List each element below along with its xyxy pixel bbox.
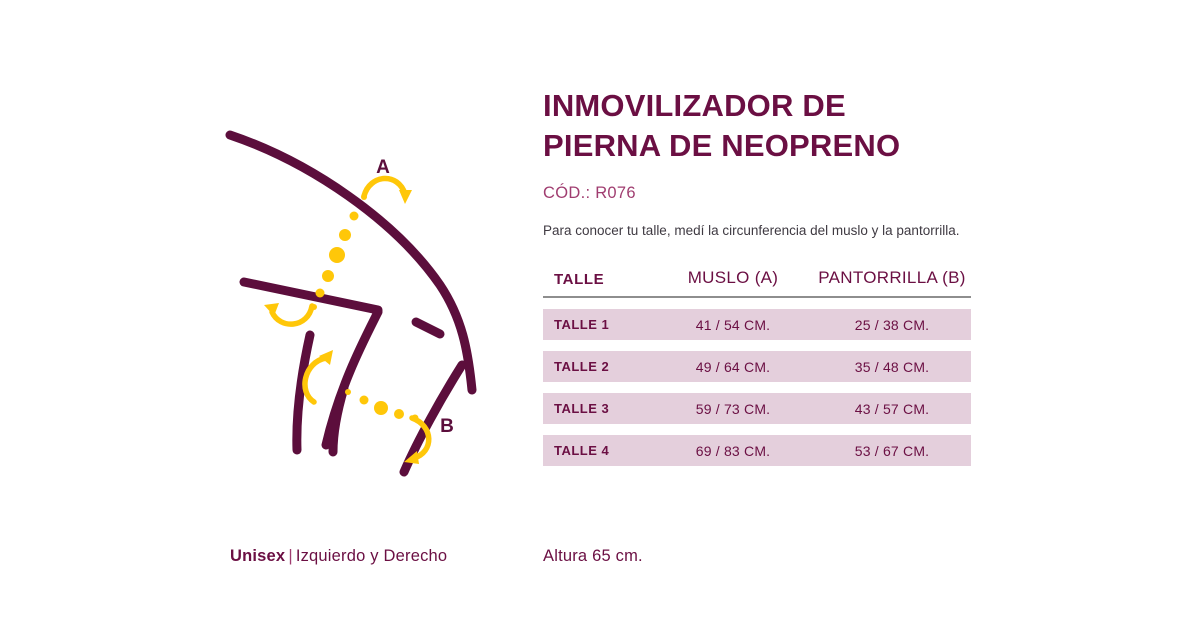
cell-talle: TALLE 3 [543, 401, 653, 416]
cell-talle: TALLE 4 [543, 443, 653, 458]
table-header-row: TALLE MUSLO (A) PANTORRILLA (B) [543, 268, 971, 296]
leg-diagram: A B [200, 100, 520, 500]
cell-muslo: 41 / 54 CM. [653, 317, 813, 333]
arrow-shin-head [319, 350, 333, 365]
column-header-talle: TALLE [543, 271, 653, 288]
label-a: A [376, 157, 390, 178]
footer-separator: | [285, 547, 296, 565]
footer-unisex-label: Unisex [230, 547, 285, 565]
product-title-line2: PIERNA DE NEOPRENO [543, 128, 900, 163]
thigh-outline [230, 135, 472, 390]
column-header-pantorrilla: PANTORRILLA (B) [813, 268, 971, 288]
size-table: TALLE MUSLO (A) PANTORRILLA (B) TALLE 1 … [543, 268, 971, 466]
cell-muslo: 59 / 73 CM. [653, 401, 813, 417]
arrow-a-icon [364, 178, 405, 196]
arrow-a-head [399, 190, 412, 204]
column-header-muslo: MUSLO (A) [653, 268, 813, 288]
product-title-line1: INMOVILIZADOR DE [543, 88, 846, 123]
footer-usage-info: Unisex|Izquierdo y Derecho [230, 547, 447, 566]
cell-pantorrilla: 43 / 57 CM. [813, 401, 971, 417]
table-header-divider [543, 296, 971, 298]
cell-muslo: 69 / 83 CM. [653, 443, 813, 459]
cell-talle: TALLE 1 [543, 317, 653, 332]
product-code: CÓD.: R076 [543, 184, 973, 203]
table-row: TALLE 3 59 / 73 CM. 43 / 57 CM. [543, 393, 971, 424]
size-guide-page: A B INMOVILIZADOR DE PIERNA DE NEOPRENO … [0, 0, 1200, 622]
label-b: B [440, 416, 454, 437]
cell-muslo: 49 / 64 CM. [653, 359, 813, 375]
footer-sides-label: Izquierdo y Derecho [296, 547, 447, 565]
table-row: TALLE 1 41 / 54 CM. 25 / 38 CM. [543, 309, 971, 340]
table-row: TALLE 2 49 / 64 CM. 35 / 48 CM. [543, 351, 971, 382]
arrow-strap-icon [272, 306, 312, 324]
cell-talle: TALLE 2 [543, 359, 653, 374]
table-row: TALLE 4 69 / 83 CM. 53 / 67 CM. [543, 435, 971, 466]
knee-notch [416, 322, 440, 334]
inner-calf-line [333, 388, 344, 452]
page-title: INMOVILIZADOR DE PIERNA DE NEOPRENO [543, 86, 973, 165]
footer-height-info: Altura 65 cm. [543, 547, 643, 566]
cell-pantorrilla: 35 / 48 CM. [813, 359, 971, 375]
thigh-measure-dots [311, 194, 367, 310]
calf-measure-dots [345, 389, 419, 422]
product-description: Para conocer tu talle, medí la circunfer… [543, 221, 968, 241]
cell-pantorrilla: 25 / 38 CM. [813, 317, 971, 333]
cell-pantorrilla: 53 / 67 CM. [813, 443, 971, 459]
product-info: INMOVILIZADOR DE PIERNA DE NEOPRENO CÓD.… [543, 86, 973, 255]
